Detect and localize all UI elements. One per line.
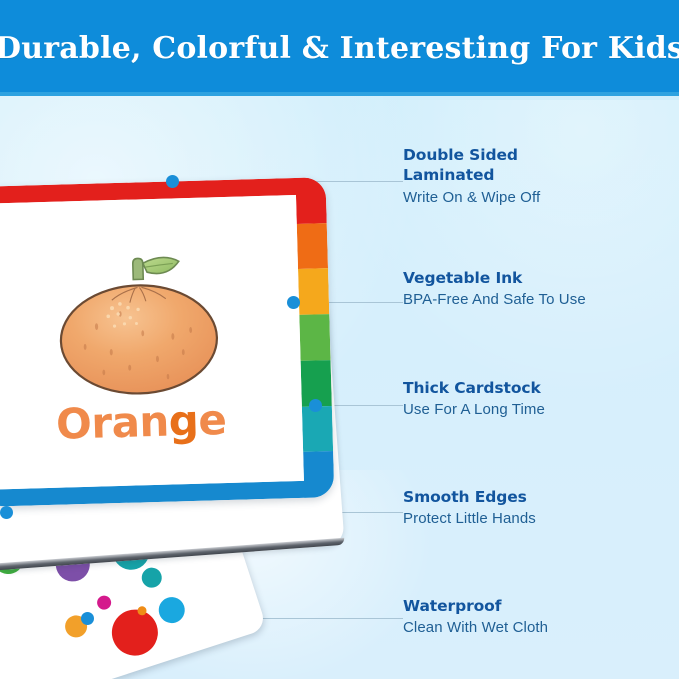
feature-title-line1: Thick Cardstock (403, 378, 679, 398)
connector-dot-vegetable-ink (287, 296, 300, 309)
feature-smooth-edges: Smooth Edges Protect Little Hands (403, 487, 679, 529)
polka-dot-4 (95, 594, 113, 612)
polka-dot-9 (155, 594, 188, 627)
connector-dot-thick-cardstock (309, 399, 322, 412)
feature-title-line2: Laminated (403, 165, 679, 185)
connector-dot-smooth-edges (0, 506, 13, 519)
feature-subtitle: Clean With Wet Cloth (403, 618, 679, 638)
polka-dot-6 (139, 565, 164, 590)
feature-title-line1: Vegetable Ink (403, 268, 679, 288)
orange-flashcard: Orange (0, 177, 334, 507)
polka-dot-10 (106, 604, 164, 662)
rainbow-segment-3 (299, 314, 330, 361)
rainbow-segment-6 (303, 451, 334, 498)
rainbow-segment-0 (295, 177, 326, 224)
flashcard-stack: Orange (0, 170, 378, 679)
rainbow-segment-5 (302, 406, 333, 453)
connector-dot-waterproof (81, 612, 94, 625)
feature-thick-cardstock: Thick Cardstock Use For A Long Time (403, 378, 679, 420)
infographic-page: Durable, Colorful & Interesting For Kids (0, 0, 679, 679)
feature-title-line1: Waterproof (403, 596, 679, 616)
feature-subtitle: Use For A Long Time (403, 400, 679, 420)
feature-subtitle: Protect Little Hands (403, 509, 679, 529)
flashcard-word: Orange (56, 399, 227, 446)
feature-subtitle: Write On & Wipe Off (403, 188, 679, 208)
rainbow-segment-1 (297, 223, 328, 270)
feature-list: Double Sided Laminated Write On & Wipe O… (403, 0, 679, 679)
feature-subtitle: BPA-Free And Safe To Use (403, 290, 679, 310)
feature-title-line1: Double Sided (403, 145, 679, 165)
orange-fruit-icon (36, 245, 240, 403)
feature-title-line1: Smooth Edges (403, 487, 679, 507)
flashcard-content: Orange (0, 195, 304, 490)
feature-waterproof: Waterproof Clean With Wet Cloth (403, 596, 679, 638)
feature-vegetable-ink: Vegetable Ink BPA-Free And Safe To Use (403, 268, 679, 310)
flashcard-word-text: Orange (55, 395, 227, 449)
connector-dot-double-sided-laminated (166, 175, 179, 188)
feature-double-sided-laminated: Double Sided Laminated Write On & Wipe O… (403, 145, 679, 207)
rainbow-segment-2 (298, 269, 329, 316)
